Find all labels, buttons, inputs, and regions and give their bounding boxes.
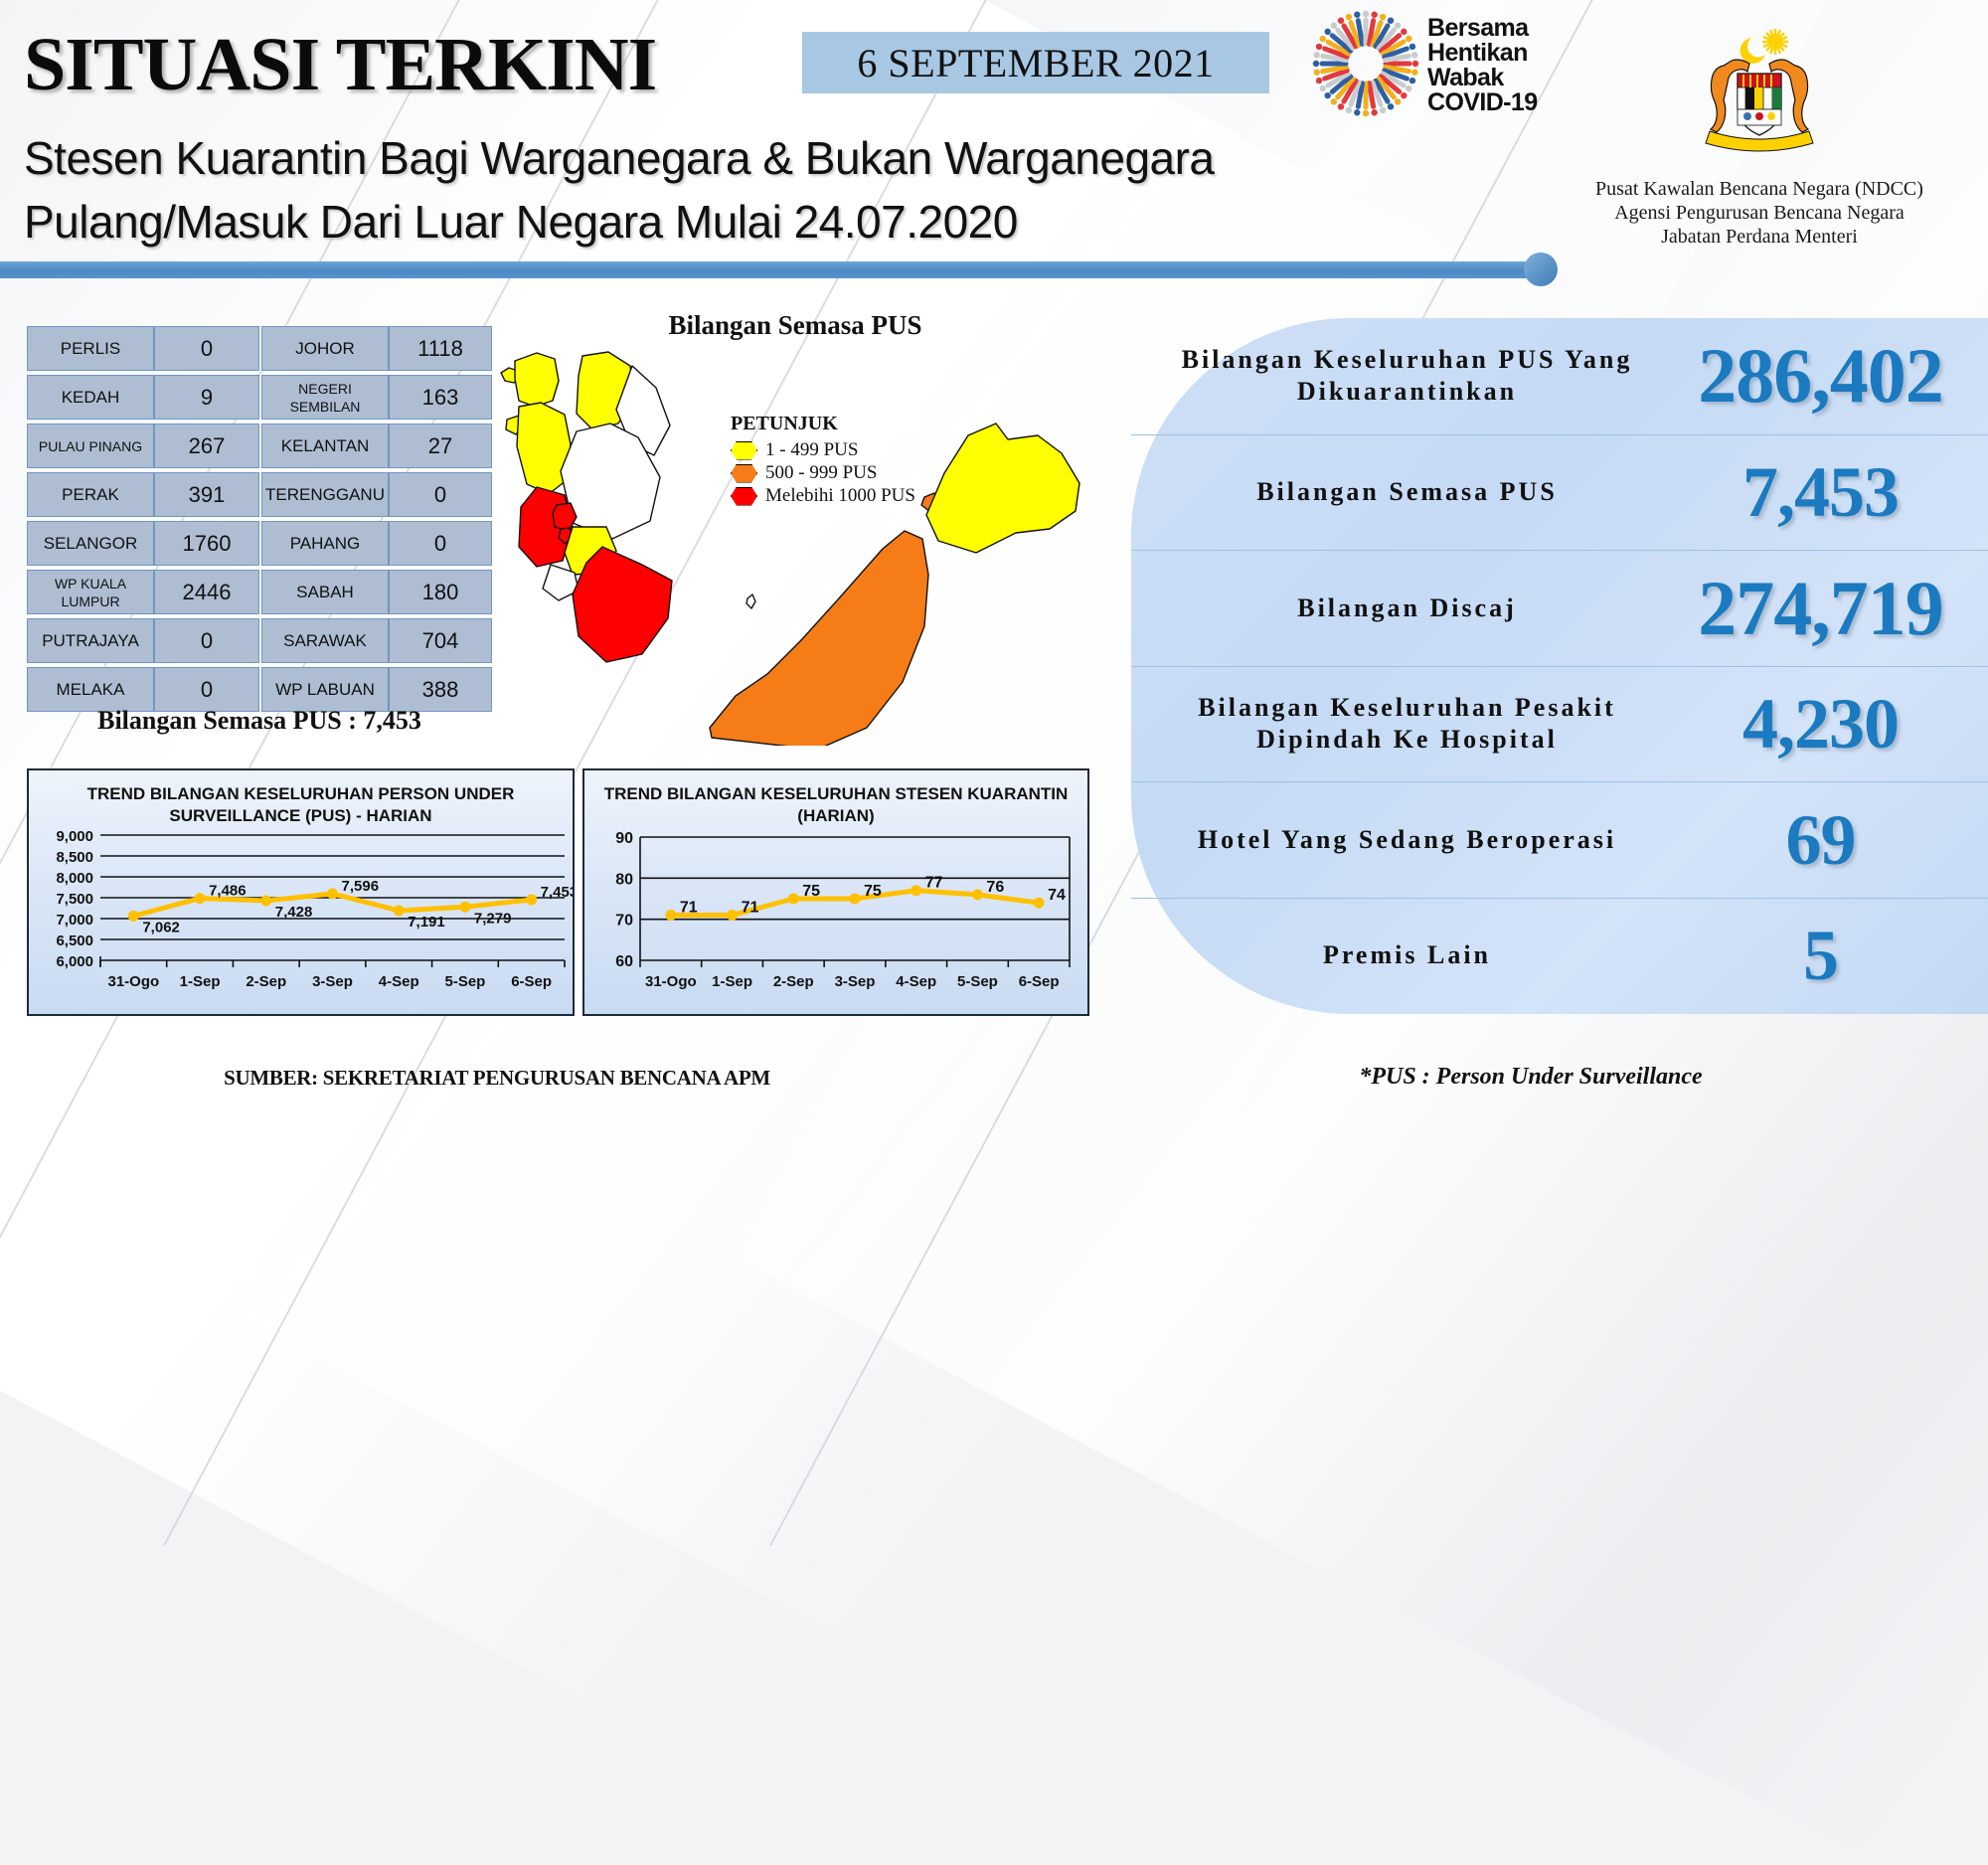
statistics-panel: Bilangan Keseluruhan PUS Yang Dikuaranti…	[1131, 318, 1988, 1014]
svg-text:1-Sep: 1-Sep	[712, 973, 752, 990]
agency-line-2: Agensi Pengurusan Bencana Negara	[1551, 201, 1968, 225]
chart2-plot: 607080907171757577767431-Ogo1-Sep2-Sep3-…	[584, 827, 1087, 998]
state-name-right: JOHOR	[261, 326, 389, 371]
source-footer: SUMBER: SEKRETARIAT PENGURUSAN BENCANA A…	[149, 1066, 845, 1091]
svg-text:4-Sep: 4-Sep	[896, 973, 936, 990]
state-value-left: 0	[154, 326, 259, 371]
state-name-left: PERLIS	[27, 326, 154, 371]
stat-label: Bilangan Keseluruhan Pesakit Dipindah Ke…	[1131, 692, 1653, 756]
svg-text:74: 74	[1048, 887, 1066, 904]
svg-text:2-Sep: 2-Sep	[246, 973, 286, 990]
svg-text:2-Sep: 2-Sep	[773, 973, 814, 990]
svg-text:6-Sep: 6-Sep	[511, 973, 552, 990]
chart-station-trend: TREND BILANGAN KESELURUHAN STESEN KUARAN…	[582, 768, 1089, 1016]
svg-text:6,500: 6,500	[56, 932, 93, 949]
svg-text:6,000: 6,000	[56, 953, 93, 970]
state-name-right: SABAH	[261, 570, 389, 614]
state-name-left: PULAU PINANG	[27, 424, 154, 468]
agency-text: Pusat Kawalan Bencana Negara (NDCC) Agen…	[1551, 177, 1968, 249]
state-table-summary: Bilangan Semasa PUS : 7,453	[27, 706, 492, 736]
legend-label: 500 - 999 PUS	[765, 462, 877, 484]
svg-text:60: 60	[615, 953, 633, 970]
state-name-right: TERENGGANU	[261, 472, 389, 517]
svg-text:70: 70	[615, 913, 633, 930]
svg-text:71: 71	[742, 900, 759, 917]
table-row: WP KUALA LUMPUR2446SABAH180	[27, 570, 492, 614]
pus-note-footer: *PUS : Person Under Surveillance	[1272, 1064, 1789, 1091]
legend-item: Melebihi 1000 PUS	[731, 485, 915, 507]
legend-item: 500 - 999 PUS	[731, 462, 915, 484]
svg-text:3-Sep: 3-Sep	[835, 973, 876, 990]
region-kedah	[515, 353, 559, 407]
stat-label: Bilangan Discaj	[1131, 593, 1653, 624]
malaysia-map: Bilangan Semasa PUS	[477, 328, 1113, 746]
subtitle-line-2: Pulang/Masuk Dari Luar Negara Mulai 24.0…	[24, 195, 1018, 249]
region-johor	[573, 547, 672, 662]
header: SITUASI TERKINI 6 SEPTEMBER 2021 Stesen …	[0, 0, 1988, 258]
campaign-logo-text: Bersama Hentikan Wabak COVID-19	[1427, 16, 1538, 115]
state-value-left: 267	[154, 424, 259, 468]
header-divider	[0, 261, 1536, 278]
campaign-line-4: COVID-19	[1427, 90, 1538, 115]
stat-label: Premis Lain	[1131, 939, 1653, 971]
legend-item: 1 - 499 PUS	[731, 439, 915, 461]
legend-label: Melebihi 1000 PUS	[765, 485, 915, 507]
state-name-left: KEDAH	[27, 375, 154, 420]
campaign-line-3: Wabak	[1427, 66, 1538, 90]
header-divider-dot	[1524, 253, 1558, 286]
svg-text:3-Sep: 3-Sep	[312, 973, 353, 990]
campaign-line-1: Bersama	[1427, 16, 1538, 41]
chart-pus-trend: TREND BILANGAN KESELURUHAN PERSON UNDER …	[27, 768, 575, 1016]
date-text: 6 SEPTEMBER 2021	[857, 40, 1214, 86]
svg-text:71: 71	[680, 900, 698, 917]
svg-text:7,062: 7,062	[142, 919, 180, 935]
stat-row: Bilangan Discaj274,719	[1131, 550, 1988, 666]
table-row: PUTRAJAYA0SARAWAK704	[27, 618, 492, 663]
legend-swatch-icon	[731, 487, 757, 506]
svg-text:7,453: 7,453	[541, 884, 573, 901]
stat-value: 4,230	[1653, 688, 1988, 760]
state-name-right: PAHANG	[261, 521, 389, 566]
svg-text:6-Sep: 6-Sep	[1019, 973, 1060, 990]
chart1-title: TREND BILANGAN KESELURUHAN PERSON UNDER …	[29, 770, 573, 827]
state-name-left: PERAK	[27, 472, 154, 517]
svg-text:75: 75	[864, 883, 882, 900]
map-svg	[477, 328, 1113, 746]
table-row: PERLIS0JOHOR1118	[27, 326, 492, 371]
stat-value: 286,402	[1653, 340, 1988, 412]
state-name-right: NEGERI SEMBILAN	[261, 375, 389, 420]
stat-row: Hotel Yang Sedang Beroperasi69	[1131, 781, 1988, 898]
svg-text:77: 77	[925, 875, 943, 892]
agency-line-1: Pusat Kawalan Bencana Negara (NDCC)	[1551, 177, 1968, 201]
stat-label: Bilangan Keseluruhan PUS Yang Dikuaranti…	[1131, 344, 1653, 408]
agency-line-3: Jabatan Perdana Menteri	[1551, 225, 1968, 249]
state-value-left: 2446	[154, 570, 259, 614]
legend-swatch-icon	[731, 441, 757, 460]
subtitle-line-1: Stesen Kuarantin Bagi Warganegara & Buka…	[24, 131, 1215, 185]
svg-text:5-Sep: 5-Sep	[957, 973, 998, 990]
state-name-left: PUTRAJAYA	[27, 618, 154, 663]
svg-text:4-Sep: 4-Sep	[379, 973, 419, 990]
state-name-right: KELANTAN	[261, 424, 389, 468]
svg-text:7,000: 7,000	[56, 912, 93, 929]
svg-text:7,500: 7,500	[56, 891, 93, 908]
legend-label: 1 - 499 PUS	[765, 439, 858, 461]
svg-text:8,500: 8,500	[56, 849, 93, 866]
state-name-left: WP KUALA LUMPUR	[27, 570, 154, 614]
map-title: Bilangan Semasa PUS	[477, 310, 1113, 341]
svg-text:1-Sep: 1-Sep	[180, 973, 221, 990]
date-badge: 6 SEPTEMBER 2021	[802, 32, 1269, 93]
state-name-right: SARAWAK	[261, 618, 389, 663]
legend-swatch-icon	[731, 464, 757, 483]
stat-row: Bilangan Keseluruhan Pesakit Dipindah Ke…	[1131, 666, 1988, 782]
stat-row: Premis Lain5	[1131, 898, 1988, 1014]
malaysia-coat-of-arms-icon	[1680, 20, 1839, 159]
svg-text:5-Sep: 5-Sep	[444, 973, 485, 990]
svg-text:76: 76	[986, 879, 1004, 896]
stat-value: 274,719	[1653, 573, 1988, 644]
svg-text:7,428: 7,428	[275, 904, 313, 921]
state-value-left: 1760	[154, 521, 259, 566]
stat-value: 7,453	[1653, 456, 1988, 528]
svg-text:7,279: 7,279	[474, 910, 512, 927]
svg-text:31-Ogo: 31-Ogo	[108, 973, 160, 990]
region-sabah	[926, 424, 1079, 553]
svg-text:7,191: 7,191	[408, 914, 445, 931]
table-row: KEDAH9NEGERI SEMBILAN163	[27, 375, 492, 420]
svg-text:31-Ogo: 31-Ogo	[645, 973, 697, 990]
stat-value: 69	[1653, 804, 1988, 876]
svg-text:7,486: 7,486	[209, 883, 247, 900]
table-row: PERAK391TERENGGANU0	[27, 472, 492, 517]
state-value-left: 391	[154, 472, 259, 517]
stat-label: Hotel Yang Sedang Beroperasi	[1131, 824, 1653, 856]
chart1-plot: 6,0006,5007,0007,5008,0008,5009,0007,062…	[29, 827, 573, 998]
svg-text:75: 75	[802, 883, 820, 900]
legend-title: PETUNJUK	[731, 413, 915, 435]
chart2-title: TREND BILANGAN KESELURUHAN STESEN KUARAN…	[584, 770, 1087, 827]
state-name-left: SELANGOR	[27, 521, 154, 566]
campaign-line-2: Hentikan	[1427, 41, 1538, 66]
table-row: PULAU PINANG267KELANTAN27	[27, 424, 492, 468]
campaign-logo: Bersama Hentikan Wabak COVID-19	[1312, 10, 1575, 119]
page-title: SITUASI TERKINI	[24, 22, 656, 108]
svg-text:80: 80	[615, 871, 633, 888]
map-legend: PETUNJUK 1 - 499 PUS500 - 999 PUSMelebih…	[731, 413, 915, 508]
state-table: PERLIS0JOHOR1118KEDAH9NEGERI SEMBILAN163…	[27, 326, 492, 716]
stat-row: Bilangan Semasa PUS7,453	[1131, 434, 1988, 551]
state-value-left: 9	[154, 375, 259, 420]
covid-burst-icon	[1312, 10, 1419, 117]
state-value-left: 0	[154, 618, 259, 663]
stat-row: Bilangan Keseluruhan PUS Yang Dikuaranti…	[1131, 318, 1988, 434]
region-sarawak	[710, 531, 928, 746]
svg-text:8,000: 8,000	[56, 870, 93, 887]
svg-text:9,000: 9,000	[56, 828, 93, 845]
stat-label: Bilangan Semasa PUS	[1131, 476, 1653, 508]
stat-value: 5	[1653, 920, 1988, 991]
svg-text:7,596: 7,596	[342, 878, 380, 895]
table-row: SELANGOR1760PAHANG0	[27, 521, 492, 566]
region-island	[746, 594, 755, 608]
svg-text:90: 90	[615, 830, 633, 847]
